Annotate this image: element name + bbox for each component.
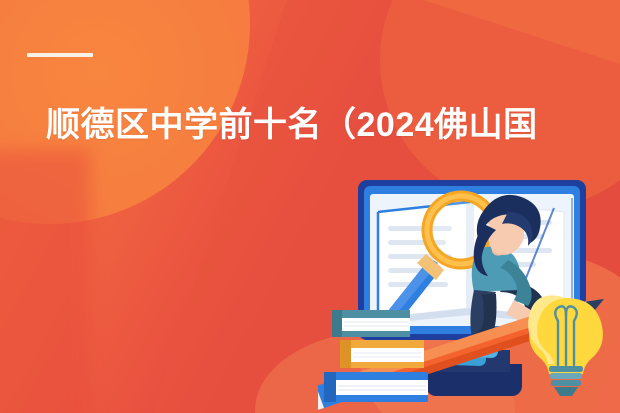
online-learning-illustration [318, 168, 620, 413]
decorative-rule [27, 53, 93, 57]
lightbulb-icon [528, 295, 603, 396]
banner-root: 顺德区中学前十名（2024佛山国 [0, 0, 620, 413]
page-title: 顺德区中学前十名（2024佛山国 [46, 104, 620, 146]
background-left-strip [0, 150, 90, 413]
